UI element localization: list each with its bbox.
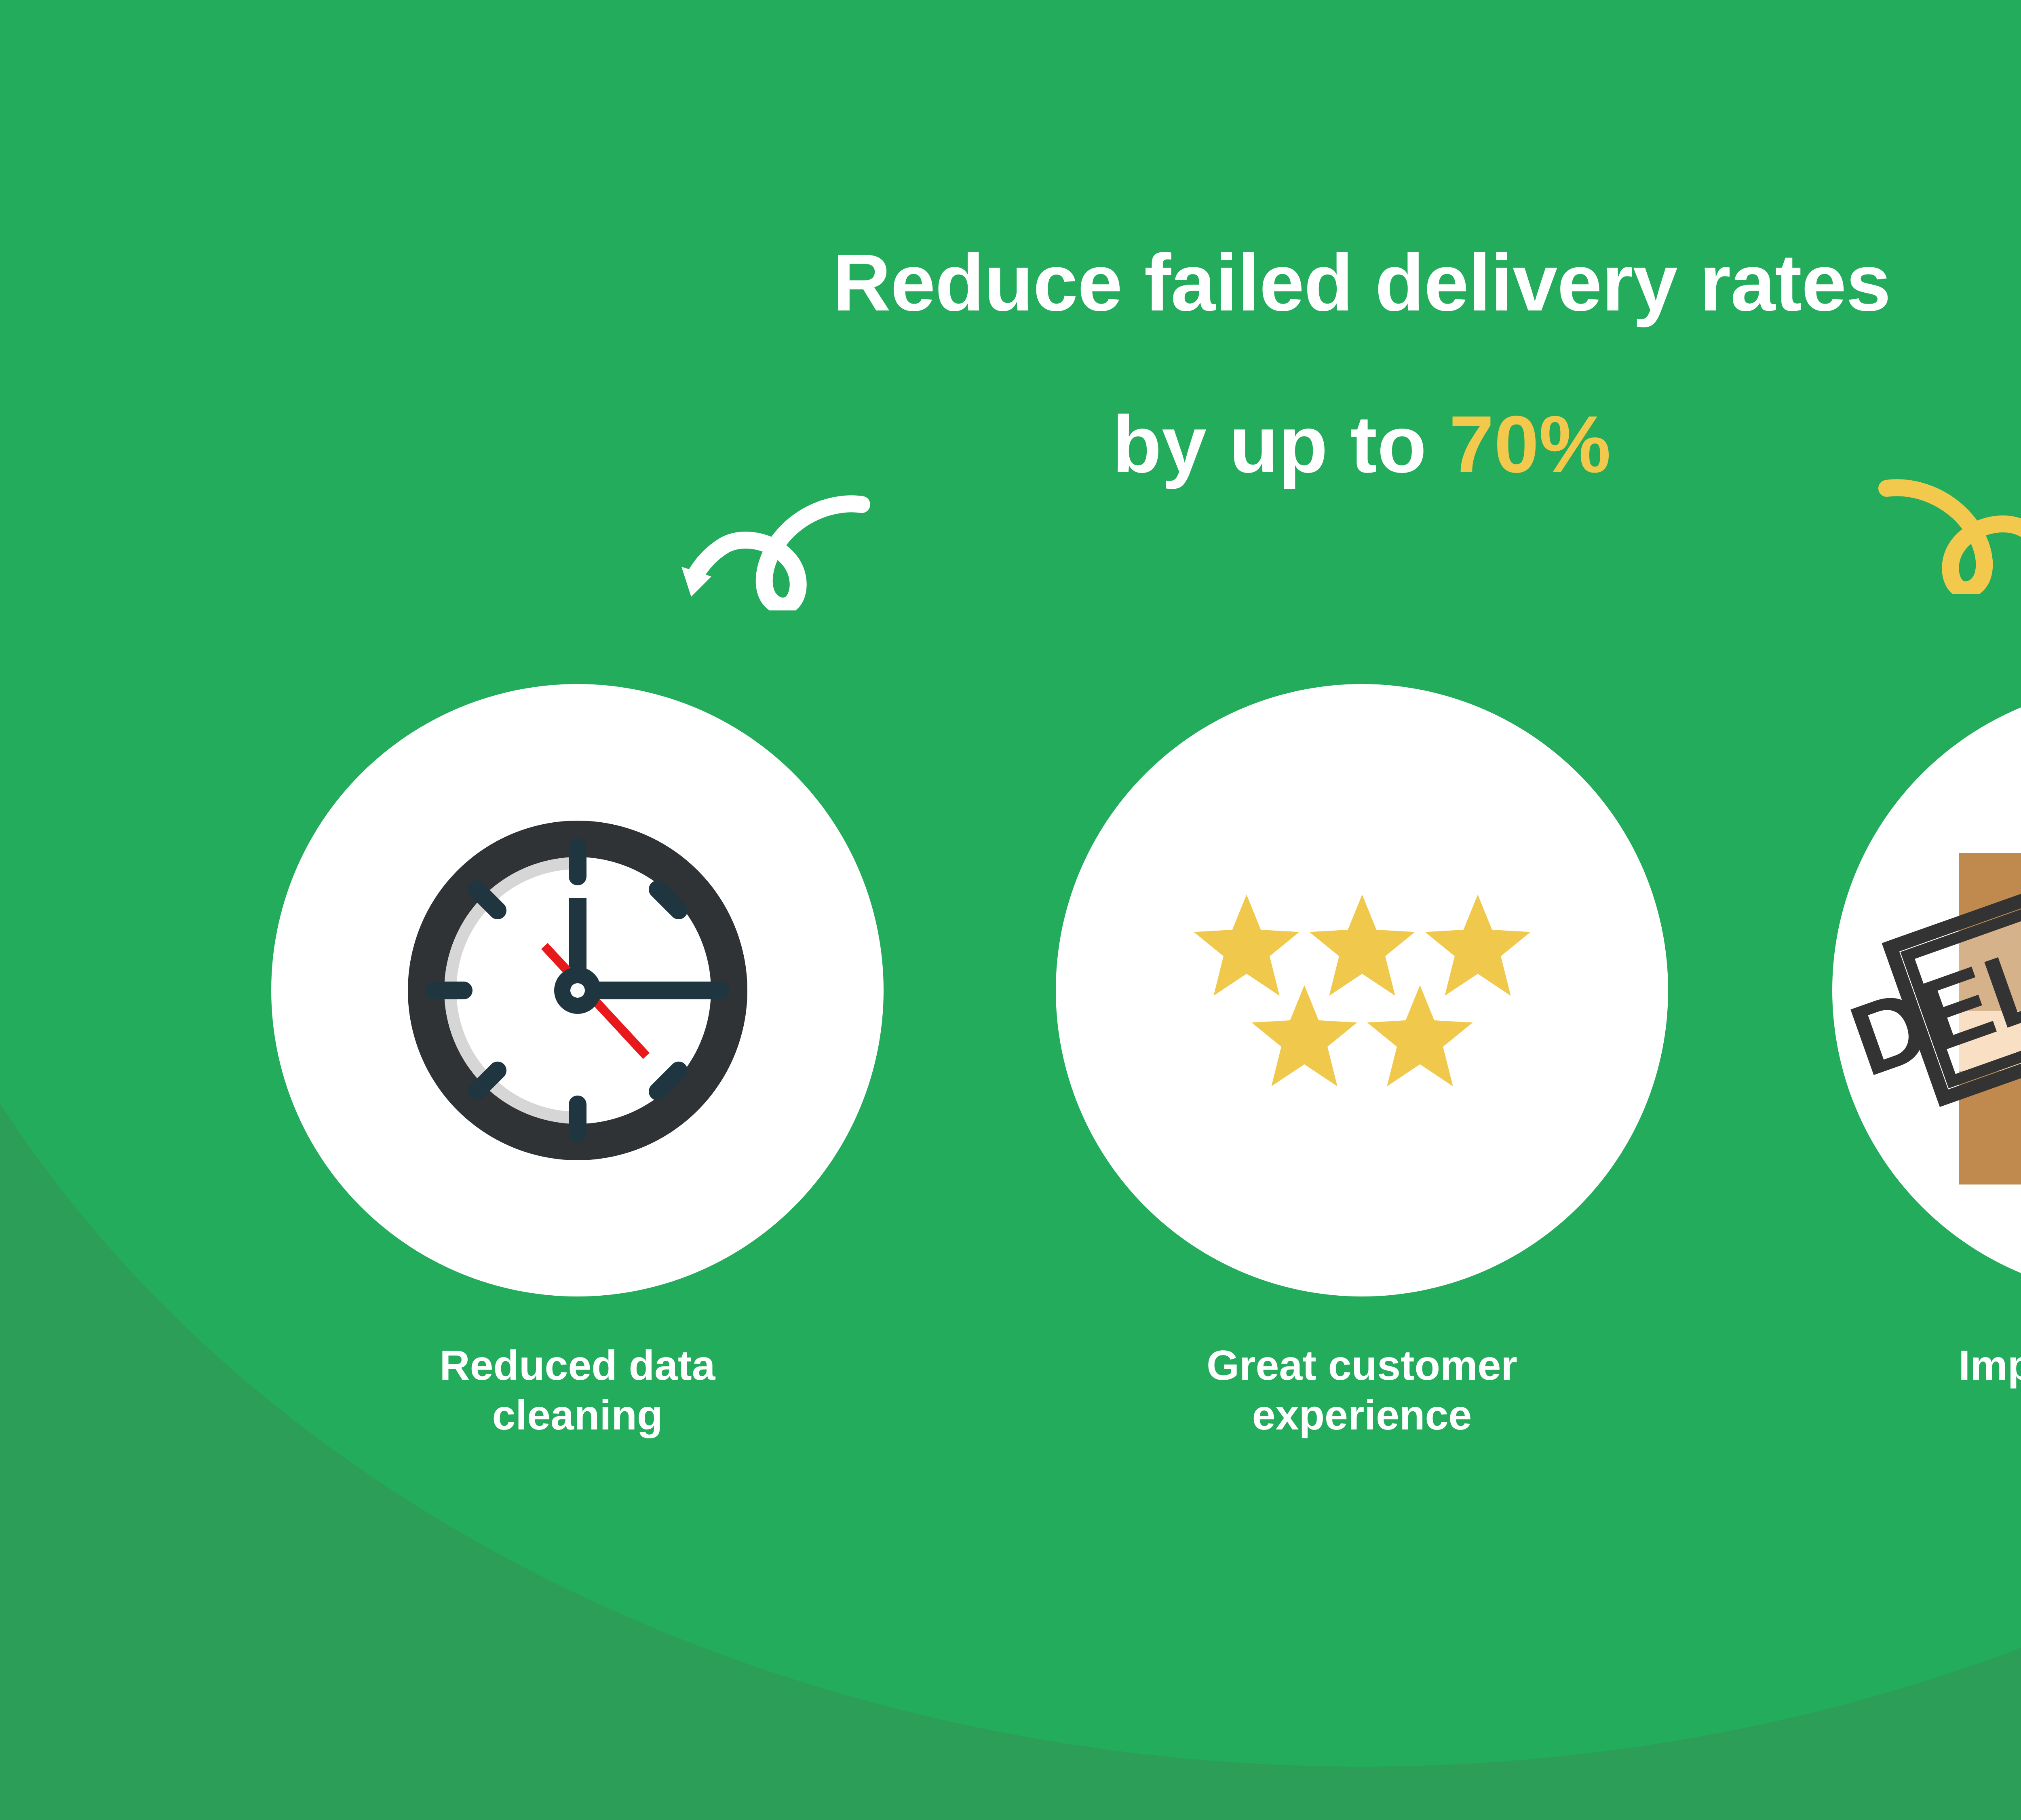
headline-percentage: 70%	[1449, 399, 1611, 490]
card-caption: Great customer experience	[1056, 1341, 1668, 1440]
icon-disc	[271, 684, 884, 1296]
caption-line-2: cleaning	[271, 1391, 884, 1440]
caption-line-1: Great customer	[1056, 1341, 1668, 1391]
yellow-curved-arrow-icon	[1875, 461, 2021, 594]
white-curved-arrow-icon	[663, 477, 873, 610]
infographic-canvas: Reduce failed delivery rates by up to 70…	[0, 0, 2021, 1820]
caption-line-2: experience	[1056, 1391, 1668, 1440]
icon-disc: DELIVERED	[1832, 684, 2021, 1296]
icon-disc	[1056, 684, 1668, 1296]
clock-icon	[396, 809, 759, 1172]
card-caption: Improved delivery rates	[1832, 1341, 2021, 1440]
headline-prefix: by up to	[1112, 399, 1449, 490]
caption-line-1: Reduced data	[271, 1341, 884, 1391]
card-caption: Reduced data cleaning	[271, 1341, 884, 1440]
star-icon	[1365, 981, 1475, 1091]
headline-line-2: by up to 70%	[0, 404, 2021, 485]
caption-line-1: Improved delivery	[1832, 1341, 2021, 1391]
headline-line-1: Reduce failed delivery rates	[0, 243, 2021, 323]
star-icon	[1249, 981, 1359, 1091]
card-great-customer-experience: Great customer experience	[1056, 684, 1668, 1440]
star-row-top	[1180, 890, 1544, 1000]
card-reduced-data-cleaning: Reduced data cleaning	[271, 684, 884, 1440]
delivered-parcel-icon: DELIVERED	[1935, 786, 2021, 1195]
caption-line-2: rates	[1832, 1391, 2021, 1440]
card-improved-delivery-rates: DELIVERED Improved delivery rates	[1832, 684, 2021, 1440]
five-stars-icon	[1180, 890, 1544, 1091]
